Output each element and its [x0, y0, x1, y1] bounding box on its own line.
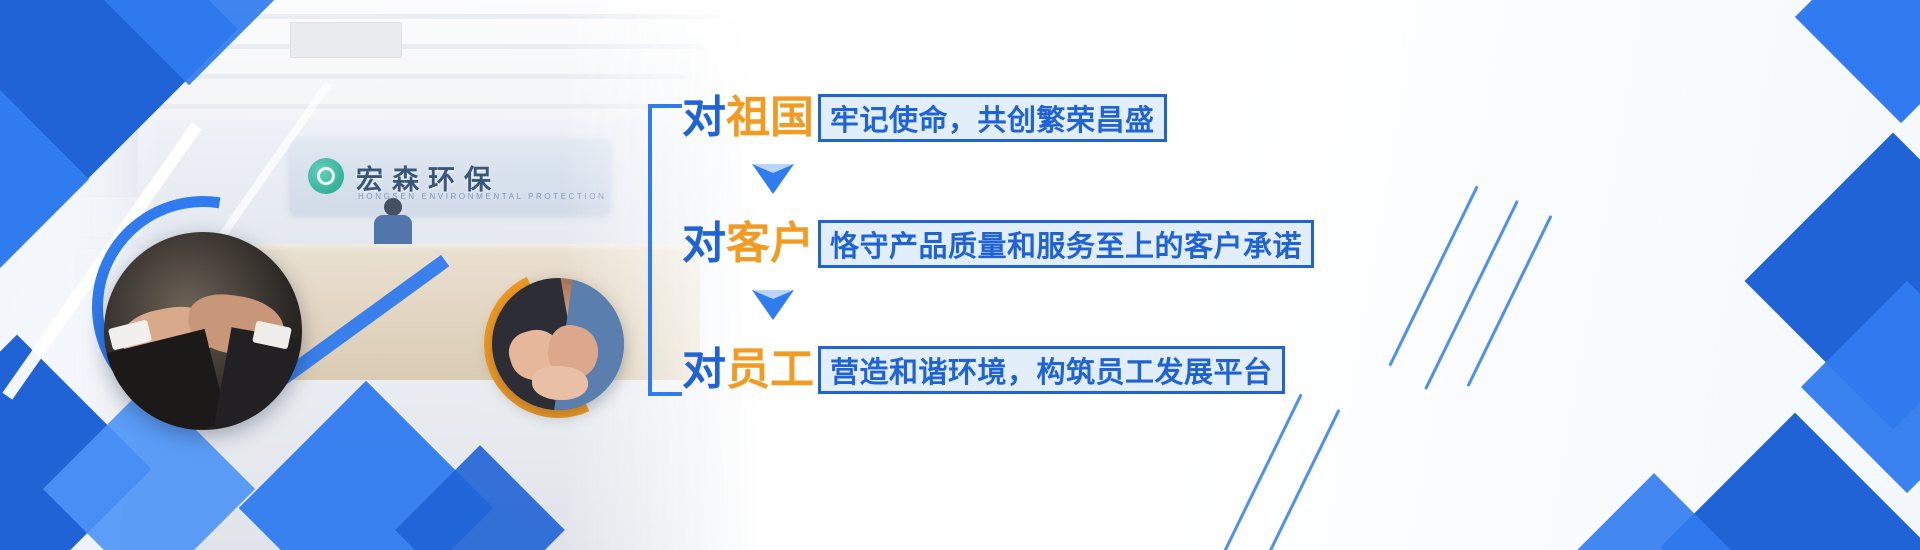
banner-root: 宏森环保 HONGSEN ENVIRONMENTAL PROTECTION [0, 0, 1920, 550]
value-slogan-employee: 营造和谐环境，构筑员工发展平台 [818, 346, 1285, 394]
value-label-employee: 对员工 [682, 348, 814, 392]
value-prefix: 对 [682, 218, 726, 269]
decor-diamond-top-right [1795, 0, 1920, 123]
value-subject: 客户 [726, 218, 814, 269]
value-slogan-customer: 恪守产品质量和服务至上的客户承诺 [818, 220, 1314, 268]
value-label-customer: 对客户 [682, 222, 814, 266]
value-slogan-country: 牢记使命，共创繁荣昌盛 [818, 94, 1167, 142]
bracket-connector [648, 104, 682, 396]
value-subject: 员工 [726, 344, 814, 395]
value-label-country: 对祖国 [682, 96, 814, 140]
company-sign: 宏森环保 HONGSEN ENVIRONMENTAL PROTECTION [290, 140, 610, 214]
company-logo-icon [308, 158, 344, 194]
value-item-employee: 对员工 营造和谐环境，构筑员工发展平台 [682, 344, 1285, 396]
value-item-customer: 对客户 恪守产品质量和服务至上的客户承诺 [682, 218, 1314, 270]
value-subject: 祖国 [726, 92, 814, 143]
value-item-country: 对祖国 牢记使命，共创繁荣昌盛 [682, 92, 1167, 144]
decor-line-2 [1424, 200, 1519, 390]
decor-line-3 [1467, 215, 1553, 387]
values-list: 对祖国 牢记使命，共创繁荣昌盛 对客户 恪守产品质量和服务至上的客户承诺 对员工… [648, 78, 1348, 468]
arrow-down-icon [752, 164, 794, 194]
handshake-photo [104, 232, 302, 430]
ceiling-vent [290, 22, 402, 58]
applause-photo [492, 278, 624, 410]
value-prefix: 对 [682, 344, 726, 395]
decor-line-1 [1388, 185, 1478, 366]
value-prefix: 对 [682, 92, 726, 143]
arrow-down-icon [752, 290, 794, 320]
